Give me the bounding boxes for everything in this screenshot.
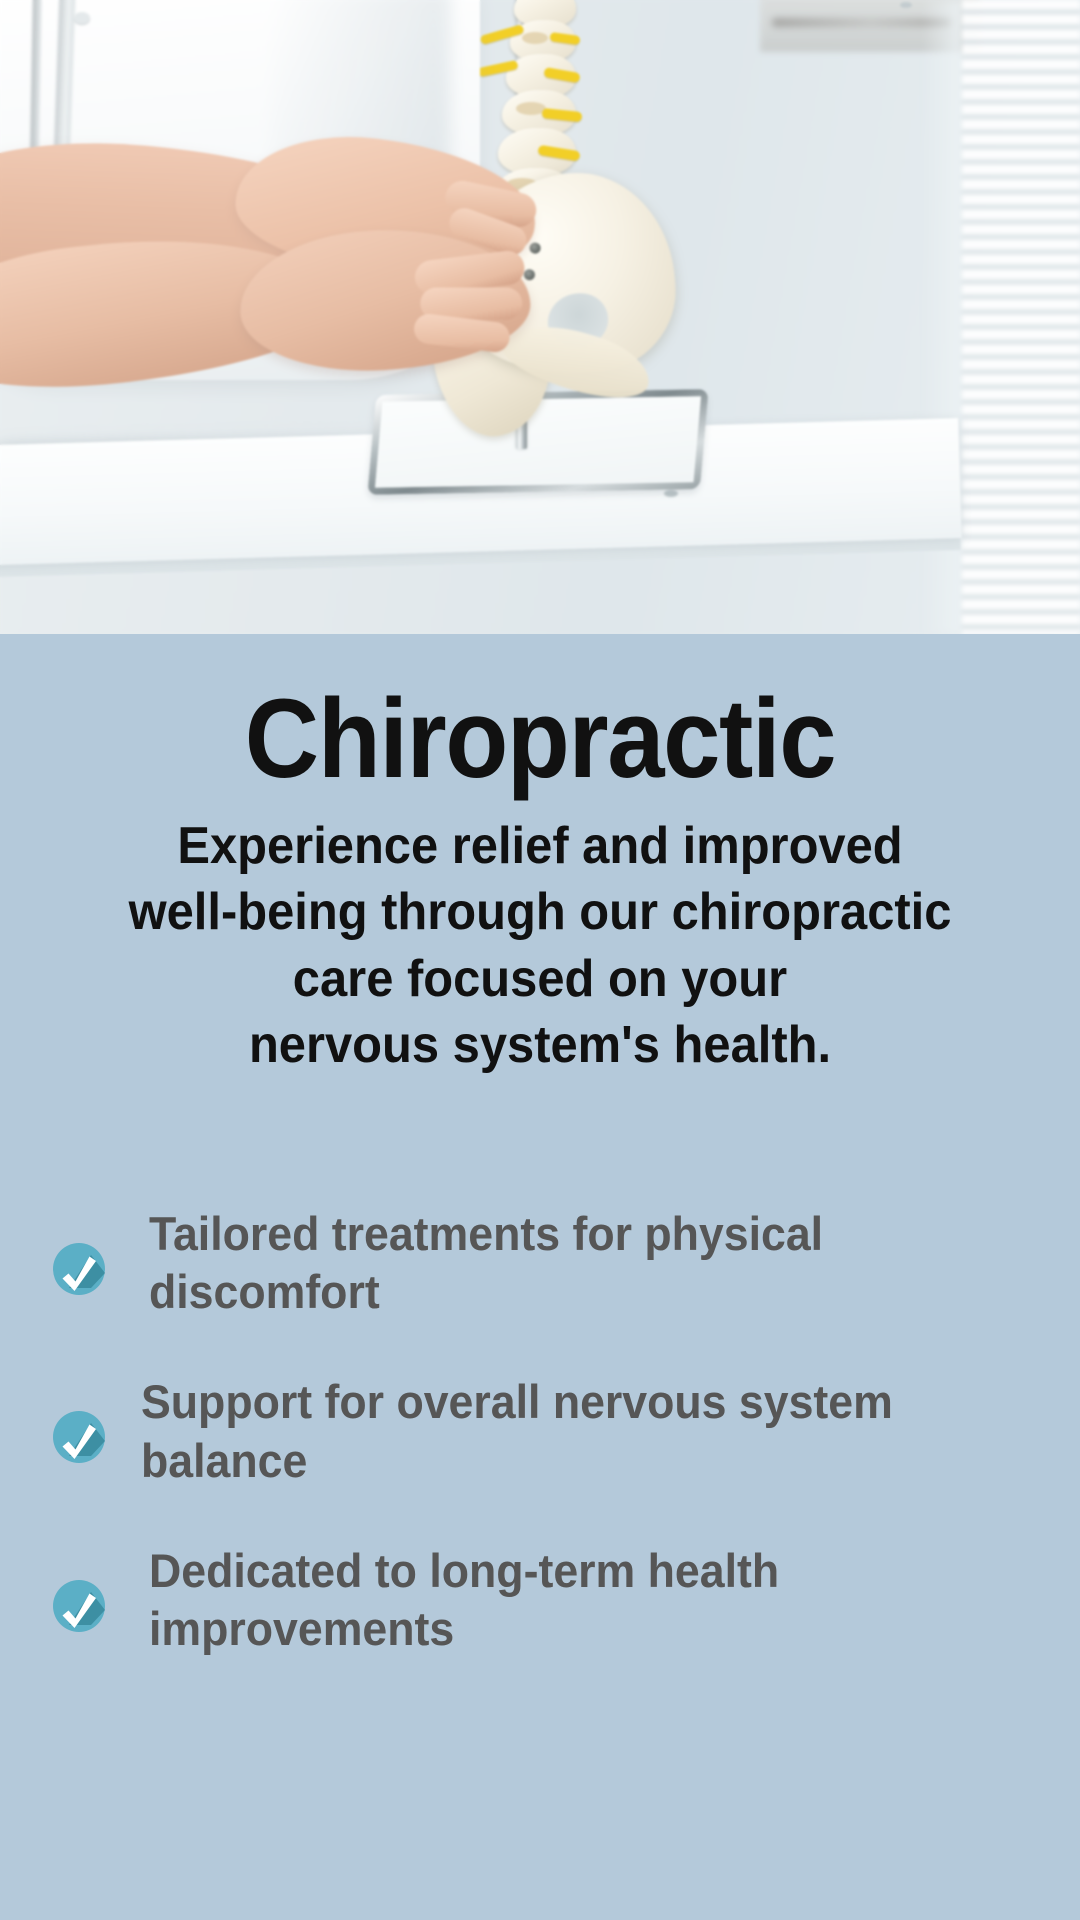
- list-item: Tailored treatments for physical discomf…: [0, 1205, 1080, 1322]
- check-circle-icon: [53, 1243, 105, 1295]
- benefits-list: Tailored treatments for physical discomf…: [0, 1079, 1080, 1659]
- table-screw-icon: [664, 490, 678, 497]
- subtitle-line: nervous system's health.: [76, 1012, 1005, 1079]
- hero-photo: [0, 0, 1080, 634]
- subtitle-line: Experience relief and improved: [76, 813, 1005, 880]
- table-screw-icon: [900, 2, 912, 8]
- list-item: Dedicated to long-term health improvemen…: [0, 1542, 1080, 1659]
- subtitle-line: well-being through our chiropractic: [76, 879, 1005, 946]
- list-item-label: Tailored treatments for physical discomf…: [149, 1205, 976, 1322]
- window-blinds-icon: [962, 0, 1080, 634]
- list-item-label: Dedicated to long-term health improvemen…: [149, 1542, 976, 1659]
- check-circle-icon: [53, 1411, 105, 1463]
- page-title: Chiropractic: [43, 634, 1037, 799]
- check-circle-icon: [53, 1580, 105, 1632]
- list-item: Support for overall nervous system balan…: [0, 1373, 1080, 1490]
- subtitle-line: care focused on your: [76, 946, 1005, 1013]
- subtitle: Experience relief and improved well-bein…: [32, 799, 1047, 1079]
- content-panel: Chiropractic Experience relief and impro…: [0, 634, 1080, 1920]
- list-item-label: Support for overall nervous system balan…: [141, 1373, 976, 1490]
- chiropractic-poster: Chiropractic Experience relief and impro…: [0, 0, 1080, 1920]
- shirt-button-icon: [74, 12, 90, 24]
